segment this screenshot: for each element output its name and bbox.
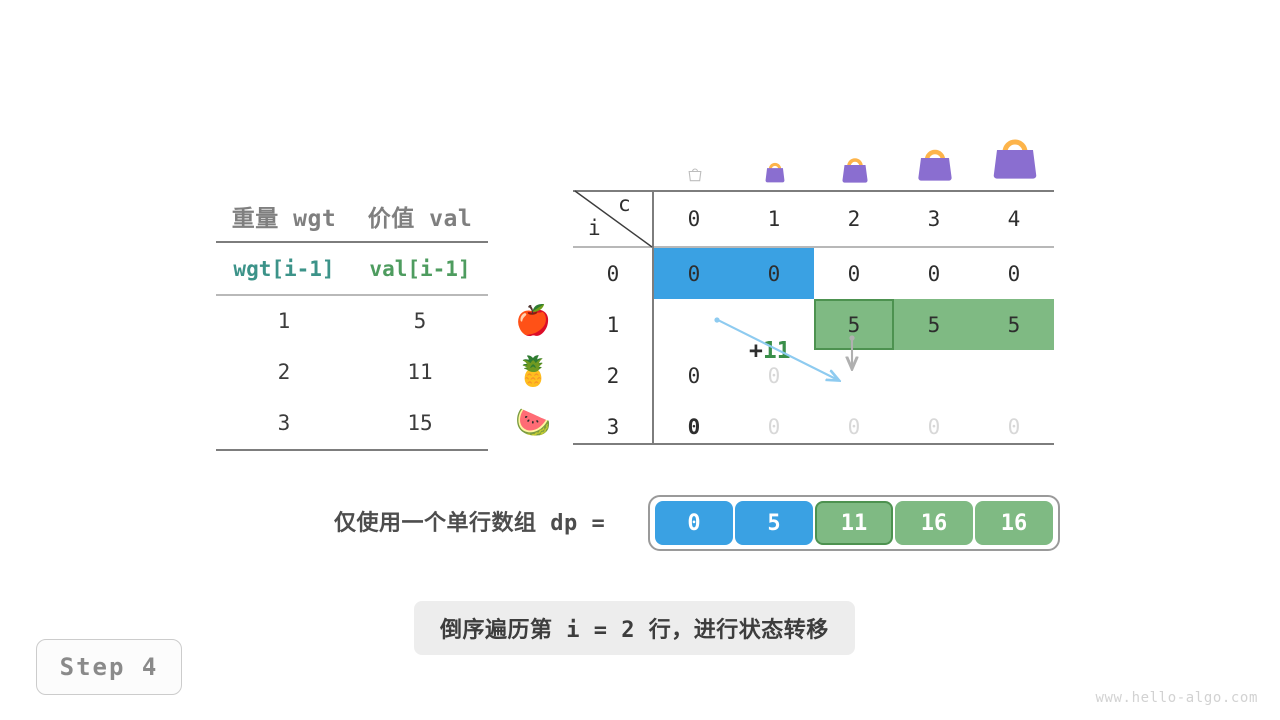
item-table-subheader-val: val[i-1] bbox=[352, 257, 488, 281]
dp-matrix-table: 0 1 2 3 4 0 1 2 3 0 0 0 0 0 0 5 5 5 5 0 … bbox=[573, 190, 1054, 445]
item-wgt-2: 2 bbox=[216, 360, 352, 384]
item-table-subheader-wgt: wgt[i-1] bbox=[216, 257, 352, 281]
matrix-cell-2-4: 16 bbox=[974, 350, 1054, 401]
dp-array-label: 仅使用一个单行数组 dp = bbox=[334, 505, 605, 537]
bag-capacity-1-icon bbox=[735, 118, 815, 184]
matrix-row-header-0: 0 bbox=[573, 248, 653, 299]
matrix-col-header-4: 4 bbox=[974, 193, 1054, 244]
table-row: 2 11 bbox=[216, 347, 488, 398]
dp-array-cell-0[interactable]: 0 bbox=[655, 501, 733, 545]
matrix-col-header-1: 1 bbox=[734, 193, 814, 244]
item-table-header-row: 重量 wgt 价值 val bbox=[216, 190, 488, 241]
item-table-rule-bottom bbox=[216, 449, 488, 451]
matrix-corner-label-i: i bbox=[588, 216, 601, 240]
item-table-subheader-row: wgt[i-1] val[i-1] bbox=[216, 243, 488, 294]
step-badge: Step 4 bbox=[36, 639, 182, 695]
annotation-value: 11 bbox=[763, 338, 791, 364]
matrix-row-header-1: 1 bbox=[573, 299, 653, 350]
dp-array-section: 仅使用一个单行数组 dp = 0 5 11 16 16 bbox=[334, 495, 1060, 551]
item-table-header-wgt: 重量 wgt bbox=[216, 199, 352, 233]
matrix-cell-0-4: 0 bbox=[974, 248, 1054, 299]
matrix-cell-0-0: 0 bbox=[654, 248, 734, 299]
matrix-row-header-2: 2 bbox=[573, 350, 653, 401]
pineapple-icon: 🍍 bbox=[505, 346, 561, 397]
matrix-corner-label-c: c bbox=[618, 192, 631, 216]
matrix-cell-2-2: 11 bbox=[814, 350, 894, 401]
apple-icon: 🍎 bbox=[505, 295, 561, 346]
watermark: www.hello-algo.com bbox=[1095, 690, 1258, 706]
matrix-cell-1-2: 5 bbox=[814, 299, 894, 350]
dp-array-cell-4[interactable]: 16 bbox=[975, 501, 1053, 545]
item-wgt-3: 3 bbox=[216, 411, 352, 435]
table-row: 1 5 bbox=[216, 296, 488, 347]
matrix-cell-3-2: 0 bbox=[814, 401, 894, 452]
matrix-row-header-3: 3 bbox=[573, 401, 653, 452]
item-val-2: 11 bbox=[352, 360, 488, 384]
bag-capacity-4-icon bbox=[975, 118, 1055, 184]
matrix-col-header-3: 3 bbox=[894, 193, 974, 244]
dp-array-container: 0 5 11 16 16 bbox=[648, 495, 1060, 551]
matrix-cell-3-3: 0 bbox=[894, 401, 974, 452]
bag-capacity-0-icon bbox=[655, 118, 735, 184]
matrix-cell-0-2: 0 bbox=[814, 248, 894, 299]
matrix-cell-1-3: 5 bbox=[894, 299, 974, 350]
item-icon-column: 🍎 🍍 🍉 bbox=[505, 295, 561, 448]
watermelon-icon: 🍉 bbox=[505, 397, 561, 448]
matrix-col-header-2: 2 bbox=[814, 193, 894, 244]
matrix-cell-1-4: 5 bbox=[974, 299, 1054, 350]
matrix-cell-3-4: 0 bbox=[974, 401, 1054, 452]
matrix-cell-0-1: 0 bbox=[734, 248, 814, 299]
matrix-cell-2-3: 16 bbox=[894, 350, 974, 401]
corner-diagonal-divider bbox=[573, 190, 654, 248]
value-increment-annotation: + 11 bbox=[749, 338, 791, 364]
item-val-1: 5 bbox=[352, 309, 488, 333]
matrix-col-header-0: 0 bbox=[654, 193, 734, 244]
bag-capacity-icons bbox=[655, 118, 1055, 184]
matrix-cell-3-1: 0 bbox=[734, 401, 814, 452]
annotation-plus-sign: + bbox=[749, 338, 763, 364]
matrix-cell-2-0: 0 bbox=[654, 350, 734, 401]
illustration-canvas: 重量 wgt 价值 val wgt[i-1] val[i-1] 1 5 2 11… bbox=[0, 0, 1280, 720]
matrix-cell-3-0: 0 bbox=[654, 401, 734, 452]
matrix-cell-0-3: 0 bbox=[894, 248, 974, 299]
table-row: 3 15 bbox=[216, 398, 488, 449]
item-val-3: 15 bbox=[352, 411, 488, 435]
bag-capacity-2-icon bbox=[815, 118, 895, 184]
item-wgt-1: 1 bbox=[216, 309, 352, 333]
item-table-header-val: 价值 val bbox=[352, 199, 488, 233]
dp-array-cell-1[interactable]: 5 bbox=[735, 501, 813, 545]
dp-array-cell-2[interactable]: 11 bbox=[815, 501, 893, 545]
step-caption: 倒序遍历第 i = 2 行，进行状态转移 bbox=[414, 601, 855, 655]
dp-array-cell-3[interactable]: 16 bbox=[895, 501, 973, 545]
item-weight-value-table: 重量 wgt 价值 val wgt[i-1] val[i-1] 1 5 2 11… bbox=[216, 190, 488, 451]
matrix-cell-1-0: 0 bbox=[654, 299, 734, 350]
bag-capacity-3-icon bbox=[895, 118, 975, 184]
